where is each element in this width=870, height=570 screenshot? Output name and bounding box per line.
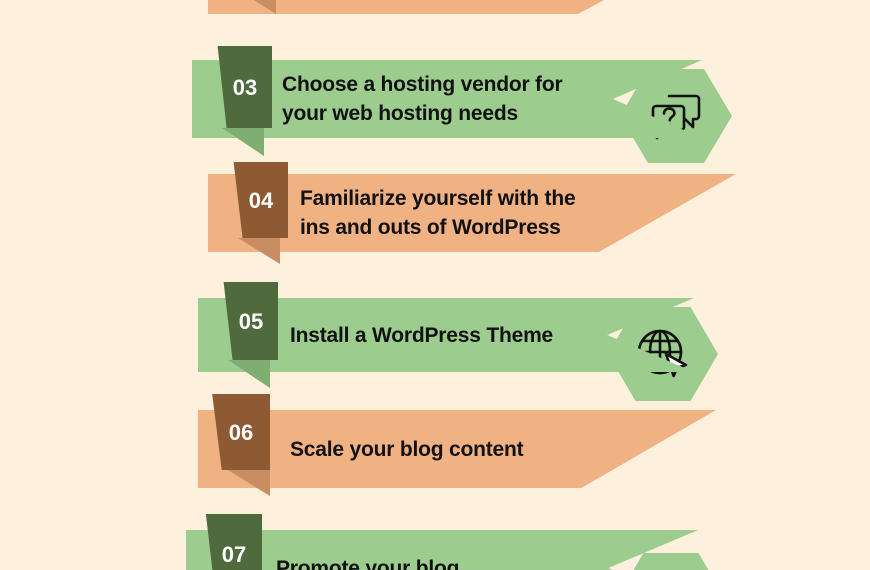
step-banner[interactable]: Blog [208,0,708,14]
step-label: Choose a hosting vendor for your web hos… [282,70,562,128]
step-number: 06 [219,418,253,446]
infographic-canvas: Blog Choose a hosting vendor for your we… [0,0,870,570]
step-banner[interactable]: Scale your blog content [198,410,716,488]
step-label: Familiarize yourself with the ins and ou… [300,184,575,242]
step-number: 07 [212,540,246,568]
step-label: Scale your blog content [290,435,523,464]
tab-fold-shadow [222,128,264,156]
step-label: Install a WordPress Theme [290,321,553,350]
step-banner[interactable]: Promote your blog [186,530,698,570]
step-number: 04 [239,186,273,214]
step-number: 03 [223,73,257,101]
step-label: Promote your blog [276,554,459,570]
step-number: 05 [229,307,263,335]
